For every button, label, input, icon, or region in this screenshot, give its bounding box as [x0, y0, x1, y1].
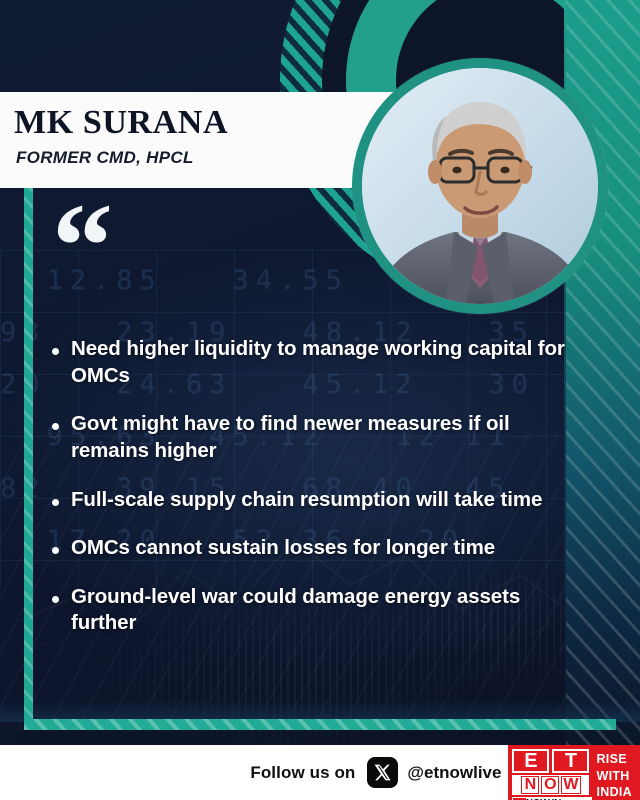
bracket-vertical-line — [24, 96, 33, 726]
x-glyph — [373, 763, 392, 782]
logo-letter-t: T — [552, 749, 589, 773]
etnow-logo-et-row: E T — [512, 749, 590, 773]
bullet-text: Need higher liquidity to manage working … — [71, 336, 577, 389]
bullet-dot-icon — [52, 423, 59, 430]
logo-letter-n: N — [521, 776, 539, 794]
social-handle[interactable]: @etnowlive — [407, 763, 501, 783]
bullet-text: Ground-level war could damage energy ass… — [71, 584, 577, 637]
etnow-logo-now-row: N O W — [512, 775, 589, 795]
etnow-logo-mark: E T N O W ET NOW.IN — [508, 745, 593, 800]
follow-label: Follow us on — [250, 763, 355, 783]
logo-letter-o: O — [541, 776, 559, 794]
quote-mark-icon: “ — [52, 186, 109, 308]
quote-bullet-list: Need higher liquidity to manage working … — [52, 336, 577, 637]
bullet-text: OMCs cannot sustain losses for longer ti… — [71, 535, 495, 562]
bullet-dot-icon — [52, 596, 59, 603]
portrait-illustration — [362, 68, 598, 304]
bullet-dot-icon — [52, 499, 59, 506]
tagline-line-1: RISE — [596, 751, 632, 768]
list-item: Govt might have to find newer measures i… — [52, 411, 577, 464]
speaker-portrait-ring — [352, 58, 608, 314]
logo-letter-e: E — [512, 749, 549, 773]
x-twitter-icon[interactable] — [367, 757, 398, 788]
bullet-text: Govt might have to find newer measures i… — [71, 411, 577, 464]
speaker-portrait-photo — [362, 68, 598, 304]
footer-bar: Follow us on @etnowlive E T N O W ET — [0, 745, 640, 800]
poster-canvas: 12.85 34.55 14.70 93 23.19 48.12 35 20 2… — [0, 0, 640, 745]
bullet-text: Full-scale supply chain resumption will … — [71, 487, 542, 514]
tagline-line-2: WITH — [596, 768, 632, 785]
list-item: Full-scale supply chain resumption will … — [52, 487, 577, 514]
quote-card-poster: 12.85 34.55 14.70 93 23.19 48.12 35 20 2… — [0, 0, 640, 800]
bullet-dot-icon — [52, 348, 59, 355]
list-item: Need higher liquidity to manage working … — [52, 336, 577, 389]
etnow-logo-tagline: RISE WITH INDIA — [593, 745, 640, 800]
speaker-role: FORMER CMD, HPCL — [16, 148, 194, 168]
bullet-dot-icon — [52, 547, 59, 554]
etnow-logo: E T N O W ET NOW.IN RISE WITH INDIA — [508, 745, 640, 800]
logo-letter-w: W — [561, 776, 580, 794]
list-item: OMCs cannot sustain losses for longer ti… — [52, 535, 577, 562]
bracket-horizontal-line — [24, 719, 616, 730]
speaker-name: MK SURANA — [14, 104, 228, 142]
tagline-line-3: INDIA — [596, 784, 632, 800]
list-item: Ground-level war could damage energy ass… — [52, 584, 577, 637]
